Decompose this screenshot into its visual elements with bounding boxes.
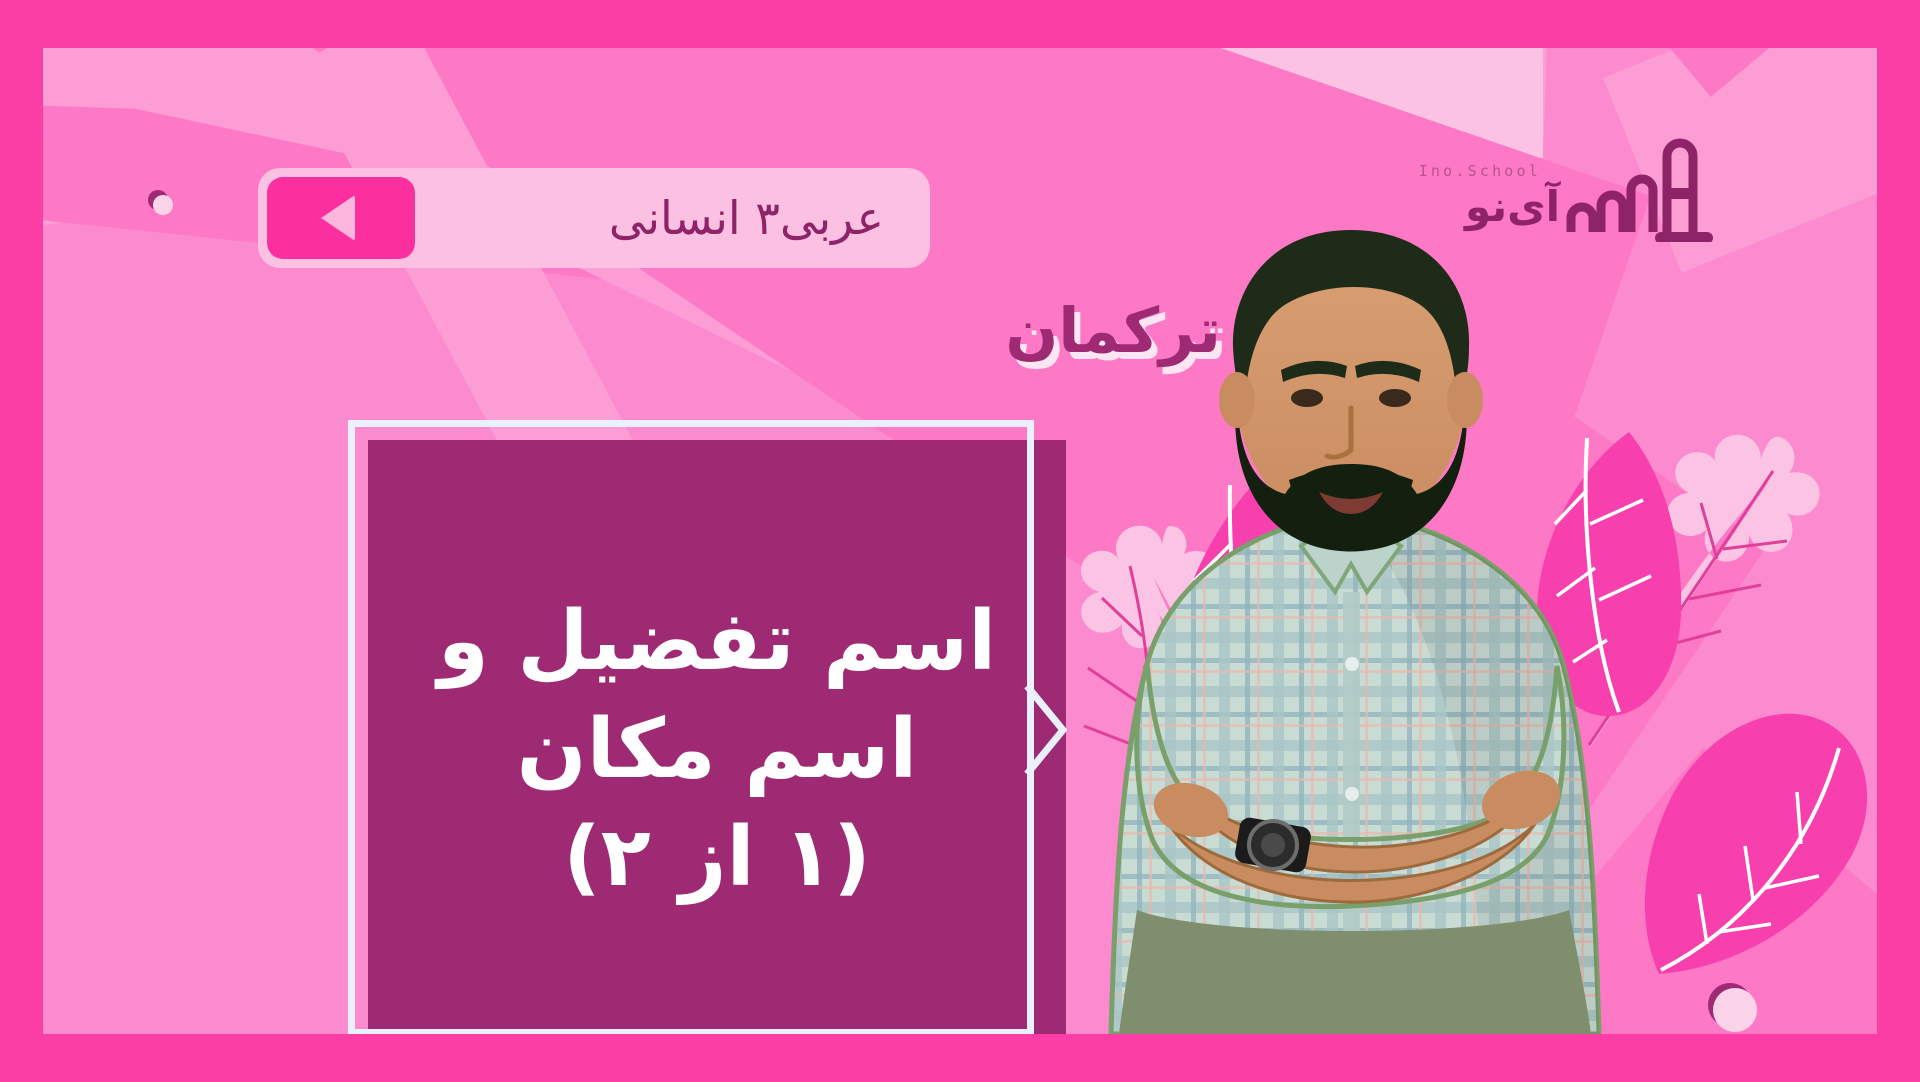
play-button[interactable] xyxy=(267,177,415,259)
decorative-dot-small xyxy=(148,190,168,210)
lesson-title-plate: اسم تفضیل و اسم مکان (۱ از ۲) xyxy=(348,420,1066,1034)
instructor-photo xyxy=(1051,194,1691,1034)
decorative-dot-large xyxy=(1708,983,1752,1027)
lesson-subject-label: عربی۳ انسانی xyxy=(609,191,884,245)
inner-canvas: عربی۳ انسانی Ino.School آی‌نو مهران ترکم… xyxy=(43,48,1877,1034)
lesson-tag-pill[interactable]: عربی۳ انسانی xyxy=(258,168,930,268)
play-triangle-icon xyxy=(321,195,355,241)
thumbnail-stage: عربی۳ انسانی Ino.School آی‌نو مهران ترکم… xyxy=(0,0,1920,1082)
brand-subtitle: Ino.School xyxy=(1419,162,1541,180)
title-white-frame xyxy=(348,420,1034,1034)
